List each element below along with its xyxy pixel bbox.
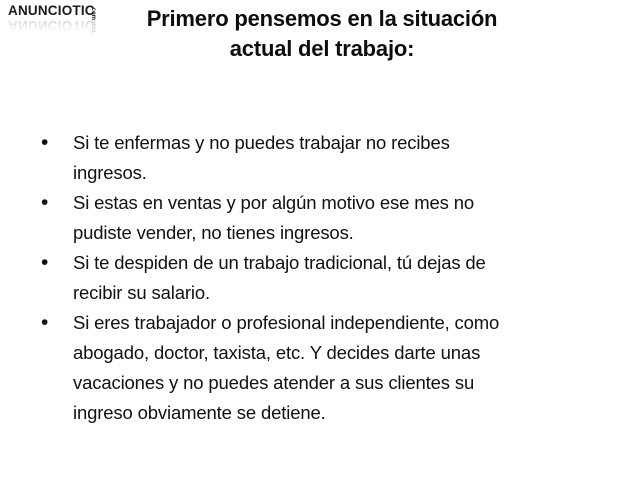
bullet-list: • Si te enfermas y no puedes trabajar no… (36, 128, 632, 428)
list-item-text: Si eres trabajador o profesional indepen… (73, 308, 632, 428)
list-item-text: Si te enfermas y no puedes trabajar no r… (73, 128, 632, 188)
logo-wordmark-text: ANUNCIOTIC (8, 4, 95, 18)
slide-canvas: ANUNCIOTIC .com ANUNCIOTIC .com Primero … (0, 0, 640, 480)
title-line-1: Primero pensemos en la situación (112, 4, 532, 34)
bullet-marker-icon: • (36, 128, 73, 158)
list-item-text: Si te despiden de un trabajo tradicional… (73, 248, 632, 308)
slide-title: Primero pensemos en la situación actual … (112, 4, 532, 64)
bullet-marker-icon: • (36, 308, 73, 338)
logo-tld-reflection-text: .com (90, 20, 96, 34)
logo-reflection-text: ANUNCIOTIC (8, 18, 95, 32)
anunciotic-logo: ANUNCIOTIC .com ANUNCIOTIC .com (8, 4, 120, 36)
list-item: • Si te enfermas y no puedes trabajar no… (36, 128, 632, 188)
bullet-marker-icon: • (36, 248, 73, 278)
list-item: • Si te despiden de un trabajo tradicion… (36, 248, 632, 308)
title-line-2: actual del trabajo: (112, 34, 532, 64)
list-item: • Si eres trabajador o profesional indep… (36, 308, 632, 428)
bullet-marker-icon: • (36, 188, 73, 218)
list-item-text: Si estas en ventas y por algún motivo es… (73, 188, 632, 248)
list-item: • Si estas en ventas y por algún motivo … (36, 188, 632, 248)
